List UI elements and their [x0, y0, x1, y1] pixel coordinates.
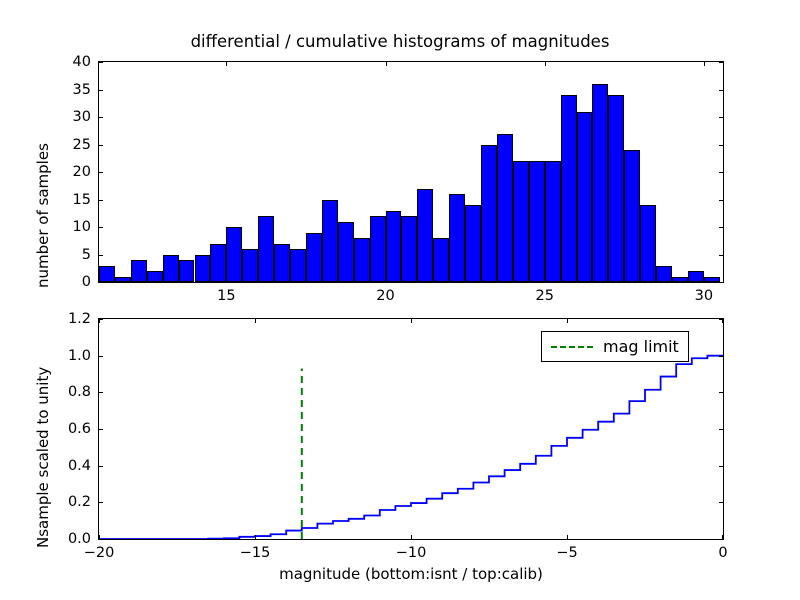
x-tick-label: −20: [84, 545, 115, 561]
x-tick-label: 30: [695, 288, 713, 304]
legend-label-mag-limit: mag limit: [603, 337, 679, 356]
histogram-bar: [258, 216, 274, 282]
y-tick-label: 25: [57, 137, 91, 153]
histogram-bar: [608, 95, 624, 282]
y-tick-label: 30: [57, 109, 91, 125]
y-tick-label: 5: [57, 247, 91, 263]
histogram-bar: [163, 255, 179, 283]
histogram-bar: [433, 238, 449, 282]
top-axis-ylabel: number of samples: [34, 143, 52, 288]
y-tick-mark: [99, 172, 103, 173]
y-tick-mark: [99, 227, 103, 228]
histogram-bar: [688, 271, 704, 282]
differential-histogram-axes: 051015202530354015202530: [98, 61, 724, 283]
y-tick-mark: [99, 200, 103, 201]
y-tick-mark: [99, 62, 103, 63]
bottom-axis-ylabel: Nsample scaled to unity: [34, 367, 52, 548]
histogram-plot-surface: 051015202530354015202530: [99, 62, 723, 282]
shared-axis-xlabel: magnitude (bottom:isnt / top:calib): [161, 565, 661, 583]
x-tick-mark: [411, 535, 412, 539]
y-tick-mark: [719, 282, 723, 283]
histogram-bar: [354, 238, 370, 282]
y-tick-mark: [719, 392, 723, 393]
histogram-bar: [179, 260, 195, 282]
page-title: differential / cumulative histograms of …: [100, 32, 700, 51]
y-tick-mark: [99, 90, 103, 91]
histogram-bar: [656, 266, 672, 283]
histogram-bar: [115, 277, 131, 283]
histogram-bar: [370, 216, 386, 282]
x-tick-mark: [545, 62, 546, 66]
x-tick-mark: [99, 319, 100, 323]
y-tick-mark: [719, 429, 723, 430]
y-tick-mark: [719, 200, 723, 201]
histogram-bar: [592, 84, 608, 282]
y-tick-mark: [99, 117, 103, 118]
x-tick-label: 15: [217, 288, 235, 304]
y-tick-mark: [99, 255, 103, 256]
y-tick-mark: [719, 172, 723, 173]
x-tick-mark: [411, 319, 412, 323]
x-tick-mark: [567, 535, 568, 539]
x-tick-label: 25: [535, 288, 553, 304]
histogram-bar: [529, 161, 545, 282]
histogram-bar: [561, 95, 577, 282]
legend-box[interactable]: mag limit: [541, 331, 689, 362]
histogram-bar: [417, 189, 433, 283]
histogram-bar: [481, 145, 497, 283]
y-tick-mark: [719, 356, 723, 357]
y-tick-mark: [719, 539, 723, 540]
x-tick-mark: [722, 319, 723, 323]
histogram-bar: [306, 233, 322, 283]
y-tick-mark: [99, 356, 103, 357]
y-tick-mark: [99, 392, 103, 393]
histogram-bar: [242, 249, 258, 282]
x-tick-mark: [704, 278, 705, 282]
y-tick-label: 0: [57, 274, 91, 290]
y-tick-label: 0.6: [53, 421, 91, 437]
x-tick-mark: [255, 535, 256, 539]
cumulative-curve: [99, 356, 723, 539]
mag-limit-dash-icon: [551, 346, 593, 348]
y-tick-label: 20: [57, 164, 91, 180]
y-tick-label: 1.0: [53, 348, 91, 364]
histogram-bar: [513, 161, 529, 282]
histogram-bar: [147, 271, 163, 282]
y-tick-mark: [99, 145, 103, 146]
x-tick-label: −5: [556, 545, 577, 561]
x-tick-label: −10: [396, 545, 427, 561]
histogram-bar: [99, 266, 115, 283]
y-tick-mark: [99, 502, 103, 503]
y-tick-mark: [719, 466, 723, 467]
x-tick-label: −15: [240, 545, 271, 561]
y-tick-mark: [99, 466, 103, 467]
y-tick-label: 0.8: [53, 384, 91, 400]
histogram-bar: [131, 260, 147, 282]
histogram-bar: [195, 255, 211, 283]
y-tick-label: 35: [57, 82, 91, 98]
histogram-bar: [640, 205, 656, 282]
histogram-bar: [672, 277, 688, 283]
histogram-bar: [449, 194, 465, 282]
y-tick-mark: [99, 539, 103, 540]
histogram-bar: [274, 244, 290, 283]
x-tick-label: 20: [376, 288, 394, 304]
y-tick-label: 0.2: [53, 494, 91, 510]
y-tick-mark: [719, 62, 723, 63]
x-tick-mark: [99, 535, 100, 539]
x-tick-mark: [722, 535, 723, 539]
histogram-bar: [497, 134, 513, 283]
histogram-bar: [624, 150, 640, 282]
y-tick-mark: [719, 90, 723, 91]
y-tick-mark: [719, 145, 723, 146]
y-tick-label: 0.4: [53, 458, 91, 474]
y-tick-label: 15: [57, 192, 91, 208]
histogram-bar: [386, 211, 402, 283]
x-tick-mark: [704, 62, 705, 66]
histogram-bar: [545, 161, 561, 282]
y-tick-label: 1.2: [53, 311, 91, 327]
histogram-bar: [226, 227, 242, 282]
x-tick-mark: [226, 62, 227, 66]
y-tick-mark: [719, 502, 723, 503]
x-tick-mark: [386, 278, 387, 282]
x-tick-mark: [255, 319, 256, 323]
y-tick-label: 10: [57, 219, 91, 235]
histogram-bar: [465, 205, 481, 282]
histogram-bar: [704, 277, 720, 283]
x-tick-mark: [226, 278, 227, 282]
histogram-bar: [322, 200, 338, 283]
histogram-bar: [290, 249, 306, 282]
y-tick-mark: [719, 227, 723, 228]
histogram-bar: [401, 216, 417, 282]
y-tick-mark: [99, 429, 103, 430]
y-tick-mark: [99, 282, 103, 283]
histogram-bar: [338, 222, 354, 283]
x-tick-mark: [567, 319, 568, 323]
x-tick-mark: [386, 62, 387, 66]
x-tick-label: 0: [718, 545, 727, 561]
x-tick-mark: [545, 278, 546, 282]
histogram-bar: [210, 244, 226, 283]
histogram-bar: [577, 112, 593, 283]
y-tick-mark: [719, 255, 723, 256]
figure-canvas: differential / cumulative histograms of …: [0, 0, 800, 600]
y-tick-label: 40: [57, 54, 91, 70]
y-tick-mark: [719, 117, 723, 118]
